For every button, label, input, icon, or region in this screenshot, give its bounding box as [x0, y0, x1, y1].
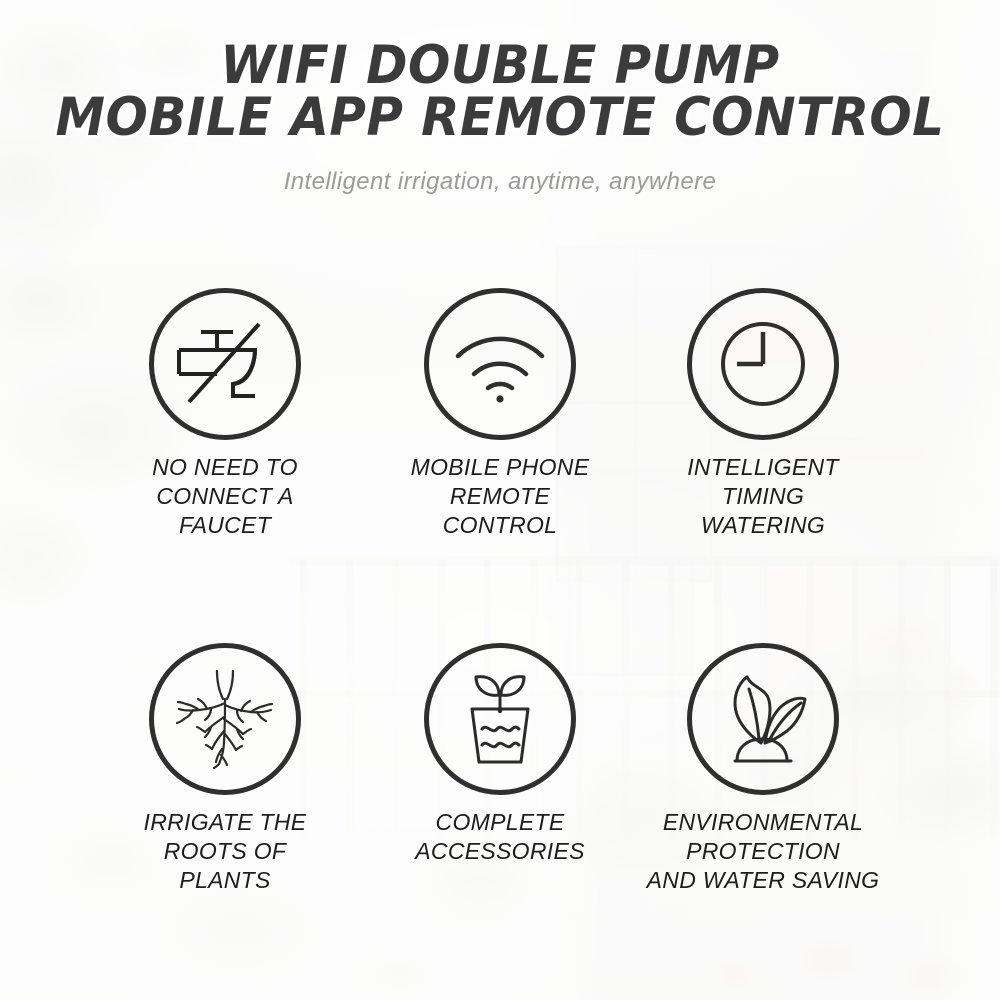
feature-no-faucet: NO NEED TO CONNECT A FAUCET	[75, 288, 375, 540]
feature-circle	[687, 288, 839, 440]
no-faucet-icon	[171, 318, 279, 410]
banner-headline: WIFI DOUBLE PUMP MOBILE APP REMOTE CONTR…	[30, 40, 970, 144]
feature-row-1: NO NEED TO CONNECT A FAUCET	[0, 288, 1000, 633]
feature-icon-wrap	[350, 288, 650, 440]
headline-line-1: WIFI DOUBLE PUMP	[30, 40, 970, 92]
feature-circle	[687, 643, 839, 795]
product-feature-banner: WIFI DOUBLE PUMP MOBILE APP REMOTE CONTR…	[0, 0, 1000, 1000]
feature-icon-wrap	[350, 643, 650, 795]
plant-roots-icon	[169, 669, 281, 769]
feature-circle	[424, 288, 576, 440]
feature-circle	[149, 288, 301, 440]
feature-intelligent-timing: INTELLIGENT TIMING WATERING	[613, 288, 913, 540]
feature-row-2: IRRIGATE THE ROOTS OF PLANTS	[0, 633, 1000, 978]
potted-plant-water-icon	[450, 667, 550, 771]
feature-label: NO NEED TO CONNECT A FAUCET	[75, 453, 375, 540]
feature-label: ENVIRONMENTAL PROTECTION AND WATER SAVIN…	[613, 808, 913, 895]
feature-mobile-remote: MOBILE PHONE REMOTE CONTROL	[350, 288, 650, 540]
feature-complete-accessories: COMPLETE ACCESSORIES	[350, 643, 650, 866]
clock-icon	[713, 314, 813, 414]
feature-circle	[149, 643, 301, 795]
eco-leaves-icon	[711, 669, 815, 769]
feature-irrigate-roots: IRRIGATE THE ROOTS OF PLANTS	[75, 643, 375, 895]
feature-environmental-protection: ENVIRONMENTAL PROTECTION AND WATER SAVIN…	[613, 643, 913, 895]
banner-subtitle: Intelligent irrigation, anytime, anywher…	[0, 168, 1000, 196]
feature-label: MOBILE PHONE REMOTE CONTROL	[350, 453, 650, 540]
feature-label: IRRIGATE THE ROOTS OF PLANTS	[75, 808, 375, 895]
feature-circle	[424, 643, 576, 795]
feature-grid: NO NEED TO CONNECT A FAUCET	[0, 288, 1000, 978]
headline-line-2: MOBILE APP REMOTE CONTROL	[30, 92, 970, 144]
feature-icon-wrap	[613, 288, 913, 440]
feature-icon-wrap	[75, 643, 375, 795]
feature-icon-wrap	[75, 288, 375, 440]
feature-label: INTELLIGENT TIMING WATERING	[613, 453, 913, 540]
feature-icon-wrap	[613, 643, 913, 795]
feature-label: COMPLETE ACCESSORIES	[350, 808, 650, 866]
wifi-icon	[448, 322, 552, 406]
